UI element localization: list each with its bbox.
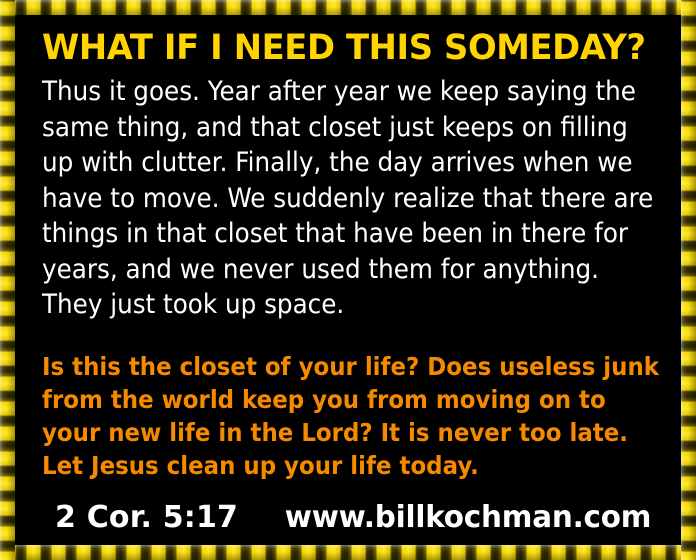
scripture-poster: WHAT IF I NEED THIS SOMEDAY? Thus it goe… xyxy=(0,0,696,560)
border-bottom-checkered xyxy=(0,545,696,560)
border-left-checkered xyxy=(0,0,15,560)
appeal-paragraph: Is this the closet of your life? Does us… xyxy=(42,350,659,482)
poster-footer: 2 Cor. 5:17 www.billkochman.com xyxy=(42,501,655,535)
body-paragraph: Thus it goes. Year after year we keep sa… xyxy=(42,74,656,323)
paragraph-divider xyxy=(42,323,655,350)
page-title: WHAT IF I NEED THIS SOMEDAY? xyxy=(42,28,634,68)
website-url[interactable]: www.billkochman.com xyxy=(285,501,651,535)
scripture-reference: 2 Cor. 5:17 xyxy=(42,501,238,535)
border-right-checkered xyxy=(681,0,696,560)
poster-content-panel: WHAT IF I NEED THIS SOMEDAY? Thus it goe… xyxy=(15,15,681,545)
border-top-checkered xyxy=(0,0,696,15)
